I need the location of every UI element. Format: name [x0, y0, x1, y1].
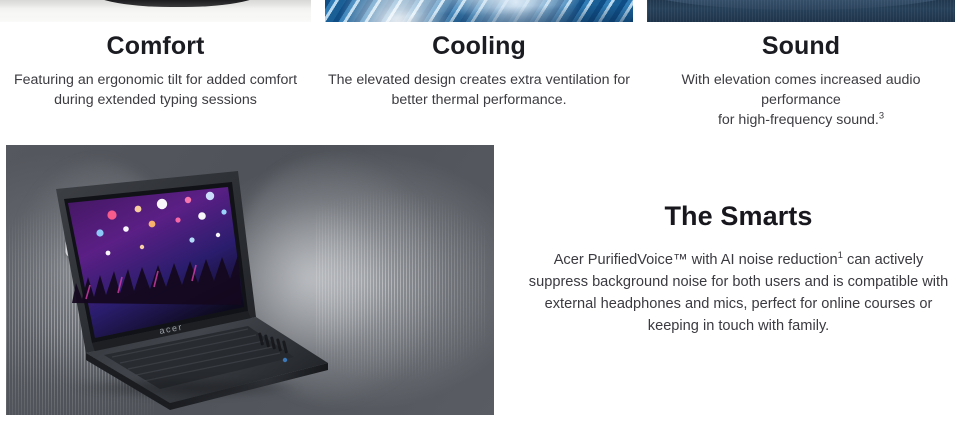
feature-row: Comfort Featuring an ergonomic tilt for …	[0, 0, 963, 130]
feature-title-cooling: Cooling	[325, 22, 633, 61]
feature-title-comfort: Comfort	[0, 22, 311, 61]
feature-card-cooling: Cooling The elevated design creates extr…	[325, 0, 633, 130]
feature-desc-line-1: The elevated design creates extra ventil…	[328, 72, 630, 88]
cooling-fan-image	[325, 0, 633, 22]
feature-desc-comfort: Featuring an ergonomic tilt for added co…	[0, 61, 311, 110]
smarts-hero-figure: acer	[0, 139, 500, 421]
smarts-description: Acer PurifiedVoice™ with AI noise reduct…	[523, 250, 955, 338]
feature-desc-cooling: The elevated design creates extra ventil…	[325, 61, 633, 110]
smarts-description-part-1: Acer PurifiedVoice™ with AI noise reduct…	[554, 252, 838, 268]
smarts-title: The Smarts	[522, 201, 955, 232]
laptop-on-desk-image	[0, 0, 311, 22]
feature-desc-line-1: Featuring an ergonomic tilt for added co…	[14, 72, 297, 88]
sound-panel-image	[647, 0, 955, 22]
smarts-copy: The Smarts Acer PurifiedVoice™ with AI n…	[500, 139, 963, 338]
feature-desc-sound: With elevation comes increased audio per…	[647, 61, 955, 130]
feature-desc-line-2: for high-frequency sound.	[718, 112, 879, 128]
laptop-shadow-decor	[72, 377, 302, 399]
feature-card-sound: Sound With elevation comes increased aud…	[647, 0, 955, 130]
laptop-audio-hero-image: acer	[6, 145, 494, 415]
feature-card-comfort: Comfort Featuring an ergonomic tilt for …	[0, 0, 311, 130]
feature-title-sound: Sound	[647, 22, 955, 61]
feature-desc-line-2: during extended typing sessions	[54, 92, 257, 108]
feature-desc-line-2: better thermal performance.	[391, 92, 566, 108]
soundwave-right-decor	[316, 145, 486, 415]
feature-footnote-marker: 3	[879, 109, 884, 120]
smarts-section: acer	[0, 139, 963, 421]
feature-desc-line-1: With elevation comes increased audio per…	[682, 72, 921, 108]
